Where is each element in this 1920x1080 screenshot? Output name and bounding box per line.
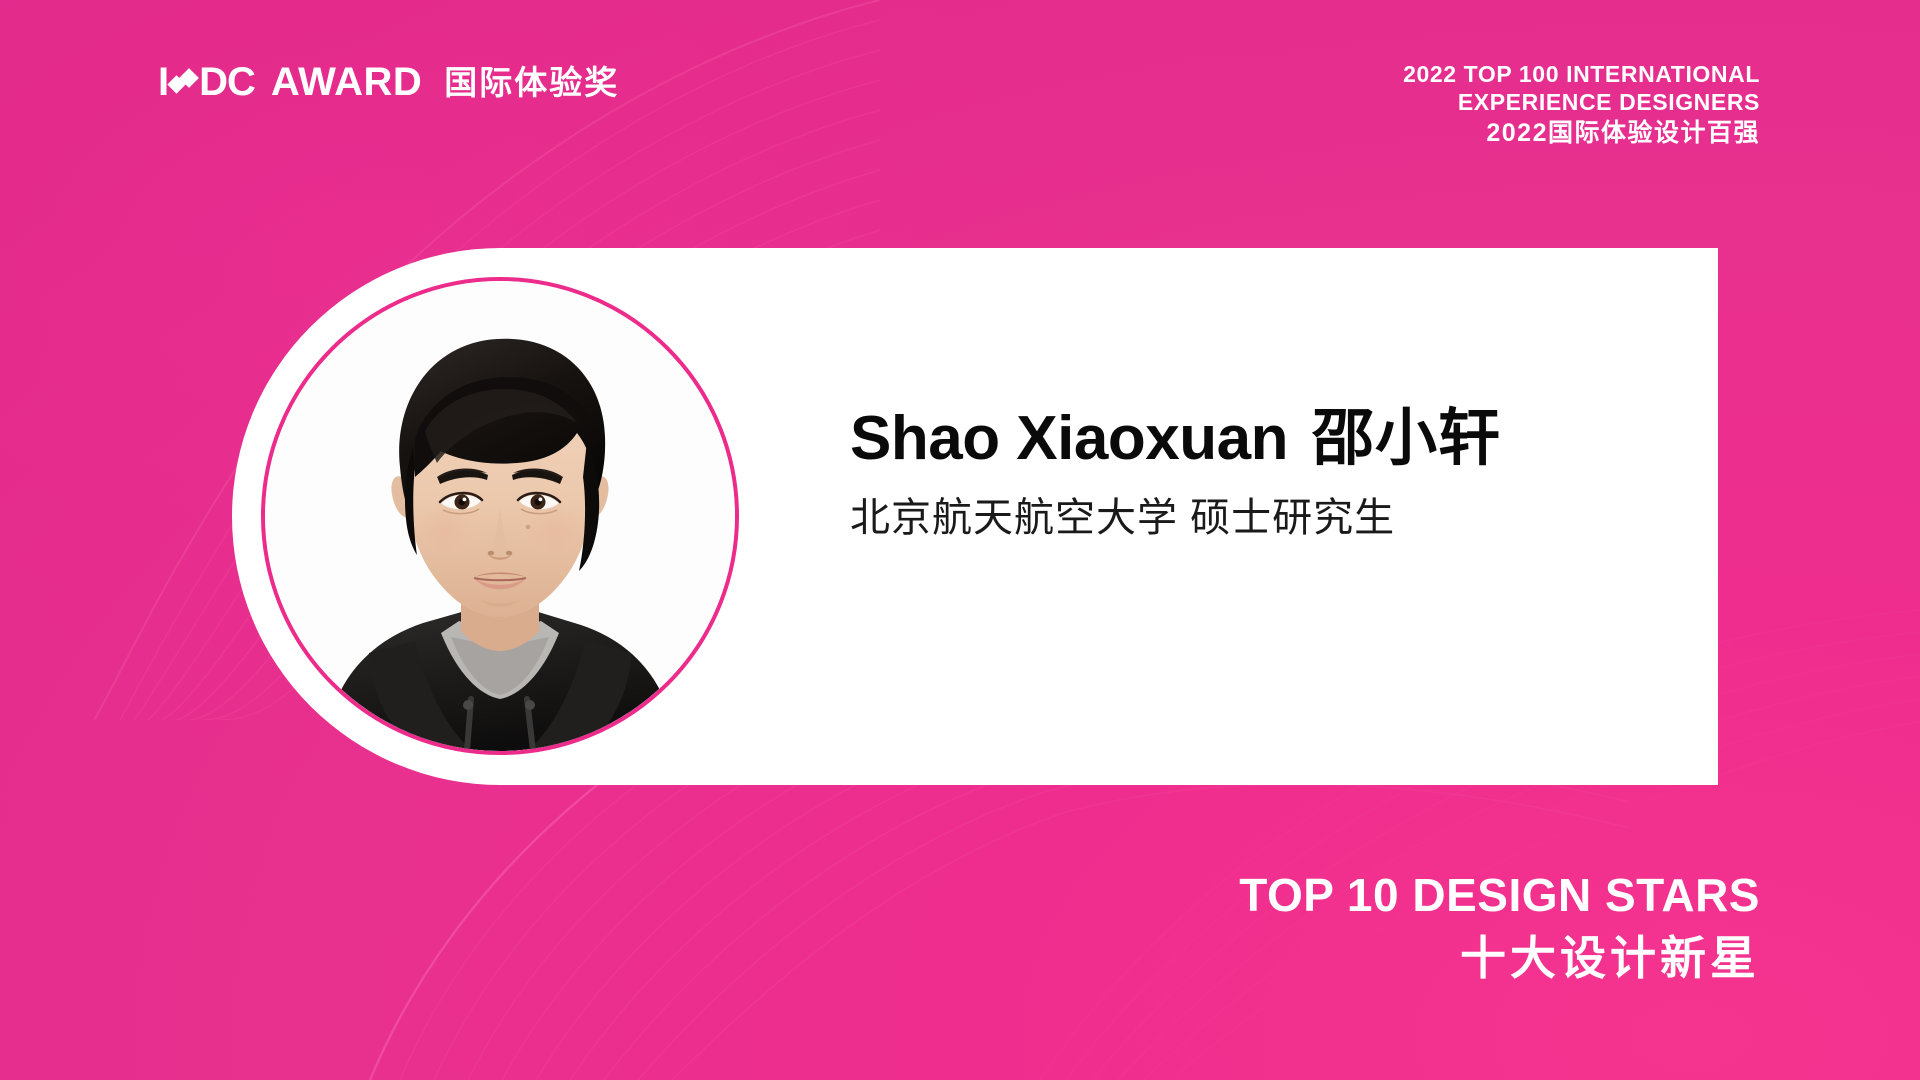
ixdc-award-logo: I DC AWARD <box>158 62 422 102</box>
honoree-affiliation: 北京航天航空大学 硕士研究生 <box>850 494 1650 542</box>
brand-prefix: I <box>158 62 168 102</box>
award-category-block: TOP 10 DESIGN STARS 十大设计新星 <box>1239 871 1760 988</box>
poster-stage: I DC AWARD 国际体验奖 2022 TOP 100 INTERNATIO… <box>0 0 1920 1080</box>
award-meta-line-1: 2022 TOP 100 INTERNATIONAL <box>1403 60 1760 88</box>
award-category-cn: 十大设计新星 <box>1239 929 1760 988</box>
brand-suffix: DC <box>199 62 255 102</box>
award-meta-line-2: EXPERIENCE DESIGNERS <box>1403 88 1760 116</box>
stylized-x-icon <box>170 67 196 97</box>
award-meta-line-3: 2022国际体验设计百强 <box>1403 117 1760 150</box>
brand-word-award: AWARD <box>271 62 422 102</box>
honoree-name-en: Shao Xiaoxuan <box>850 404 1288 473</box>
brand-lockup: I DC AWARD 国际体验奖 <box>158 62 619 102</box>
brand-chinese-name: 国际体验奖 <box>444 66 619 99</box>
honoree-name: Shao Xiaoxuan邵小轩 <box>850 408 1650 470</box>
award-category-en: TOP 10 DESIGN STARS <box>1239 871 1760 921</box>
portrait-photo <box>265 281 735 751</box>
honoree-name-cn: 邵小轩 <box>1312 404 1501 473</box>
avatar <box>261 277 739 755</box>
award-meta-block: 2022 TOP 100 INTERNATIONAL EXPERIENCE DE… <box>1403 60 1760 150</box>
honoree-info: Shao Xiaoxuan邵小轩 北京航天航空大学 硕士研究生 <box>850 408 1650 542</box>
honoree-card: Shao Xiaoxuan邵小轩 北京航天航空大学 硕士研究生 <box>232 248 1718 785</box>
